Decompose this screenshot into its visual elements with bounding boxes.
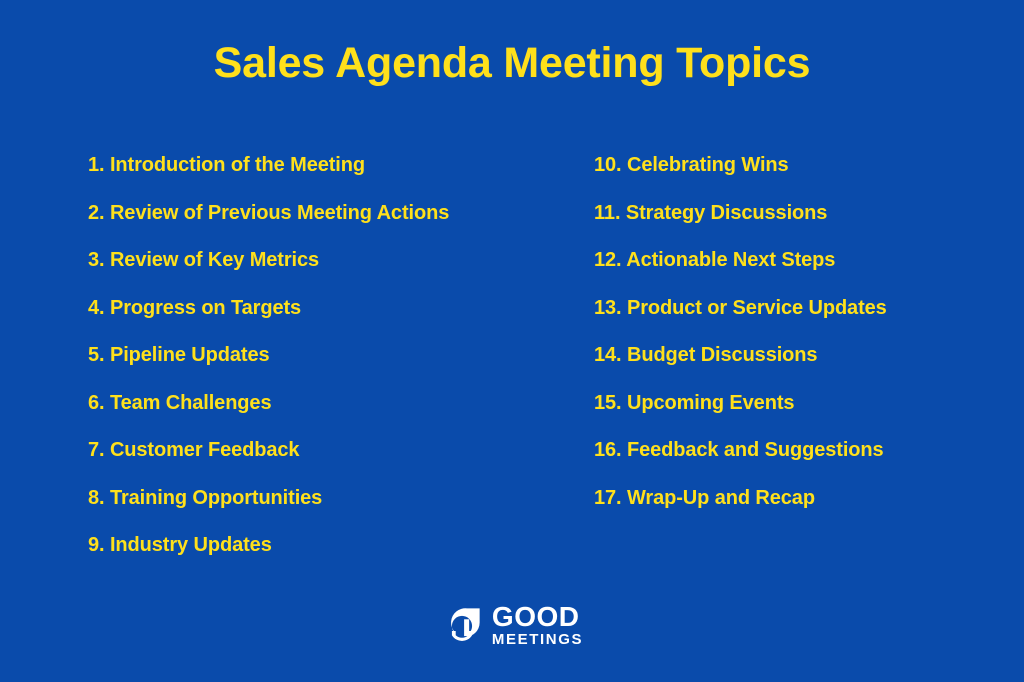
- topic-label: Upcoming Events: [627, 392, 794, 414]
- topic-label: Product or Service Updates: [627, 297, 887, 319]
- topic-label: Review of Previous Meeting Actions: [110, 202, 449, 224]
- topic-number: 4.: [88, 297, 104, 319]
- topic-number: 5.: [88, 344, 104, 366]
- topic-label: Progress on Targets: [110, 297, 301, 319]
- topics-column-right: 10. Celebrating Wins11. Strategy Discuss…: [594, 150, 994, 530]
- topic-item: 13. Product or Service Updates: [594, 293, 994, 341]
- topic-label: Celebrating Wins: [627, 154, 789, 176]
- topic-number: 8.: [88, 487, 104, 509]
- logo-word-secondary: MEETINGS: [492, 631, 583, 648]
- topic-item: 5. Pipeline Updates: [88, 340, 558, 388]
- topic-number: 9.: [88, 534, 104, 556]
- topic-item: 4. Progress on Targets: [88, 293, 558, 341]
- topic-label: Actionable Next Steps: [626, 249, 835, 271]
- topic-item: 3. Review of Key Metrics: [88, 245, 558, 293]
- topics-column-left: 1. Introduction of the Meeting2. Review …: [88, 150, 558, 578]
- topic-number: 16.: [594, 439, 622, 461]
- topic-label: Budget Discussions: [627, 344, 817, 366]
- topic-item: 15. Upcoming Events: [594, 388, 994, 436]
- topic-label: Team Challenges: [110, 392, 272, 414]
- page-title: Sales Agenda Meeting Topics: [0, 40, 1024, 87]
- topic-item: 1. Introduction of the Meeting: [88, 150, 558, 198]
- footer-logo: GOOD MEETINGS: [0, 604, 1024, 648]
- topic-item: 11. Strategy Discussions: [594, 198, 994, 246]
- topic-label: Industry Updates: [110, 534, 272, 556]
- topic-label: Strategy Discussions: [626, 202, 827, 224]
- logo-wordmark: GOOD MEETINGS: [492, 604, 583, 648]
- topic-label: Wrap-Up and Recap: [627, 487, 815, 509]
- topic-item: 14. Budget Discussions: [594, 340, 994, 388]
- topic-number: 17.: [594, 487, 622, 509]
- slide-canvas: Sales Agenda Meeting Topics 1. Introduct…: [0, 0, 1024, 682]
- topic-label: Introduction of the Meeting: [110, 154, 365, 176]
- topic-number: 12.: [594, 249, 622, 271]
- topic-item: 10. Celebrating Wins: [594, 150, 994, 198]
- topic-number: 11.: [594, 202, 620, 224]
- topic-item: 6. Team Challenges: [88, 388, 558, 436]
- good-meetings-g-icon: [441, 605, 483, 647]
- topic-number: 14.: [594, 344, 622, 366]
- logo-word-primary: GOOD: [492, 604, 583, 630]
- topic-label: Training Opportunities: [110, 487, 322, 509]
- topic-number: 6.: [88, 392, 104, 414]
- topic-number: 7.: [88, 439, 104, 461]
- topic-item: 7. Customer Feedback: [88, 435, 558, 483]
- topic-number: 2.: [88, 202, 104, 224]
- topic-label: Customer Feedback: [110, 439, 299, 461]
- topic-number: 3.: [88, 249, 104, 271]
- topic-item: 2. Review of Previous Meeting Actions: [88, 198, 558, 246]
- topic-label: Review of Key Metrics: [110, 249, 319, 271]
- topic-number: 15.: [594, 392, 622, 414]
- topic-item: 12. Actionable Next Steps: [594, 245, 994, 293]
- topic-item: 8. Training Opportunities: [88, 483, 558, 531]
- topic-item: 17. Wrap-Up and Recap: [594, 483, 994, 531]
- topic-item: 16. Feedback and Suggestions: [594, 435, 994, 483]
- topic-label: Feedback and Suggestions: [627, 439, 884, 461]
- topic-number: 10.: [594, 154, 622, 176]
- topic-number: 13.: [594, 297, 622, 319]
- topic-number: 1.: [88, 154, 104, 176]
- topic-item: 9. Industry Updates: [88, 530, 558, 578]
- topic-label: Pipeline Updates: [110, 344, 270, 366]
